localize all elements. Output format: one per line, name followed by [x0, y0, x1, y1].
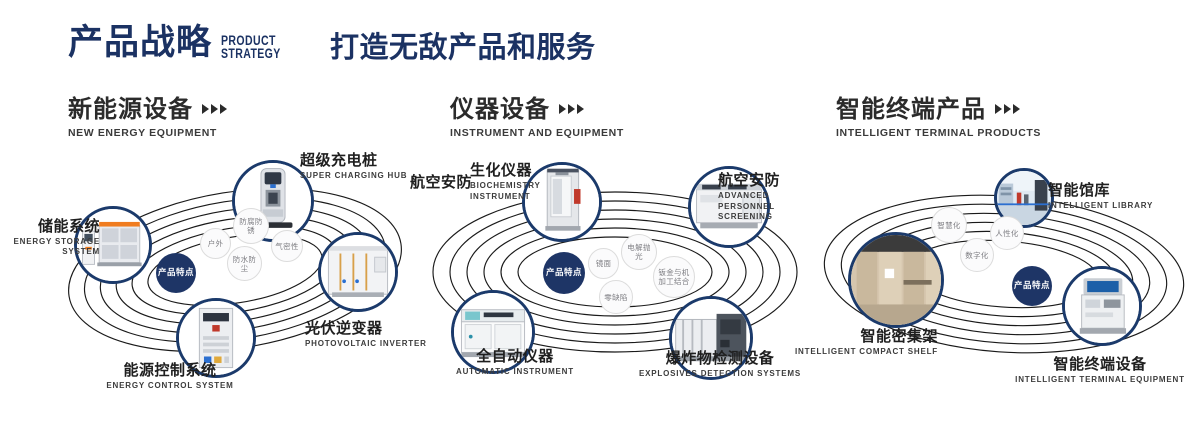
section-heading-en: NEW ENERGY EQUIPMENT	[68, 127, 227, 139]
cluster-new-energy: 产品特点 户外 防腐防锈 防水防尘 气密性	[60, 160, 420, 390]
feature-bubble-0: 户外	[200, 228, 231, 259]
poster-title-en: PRODUCT STRATEGY	[221, 34, 281, 60]
section-heading-cn: 新能源设备	[68, 96, 193, 122]
core-badge-instrument: 产品特点	[543, 252, 585, 294]
feature-bubble-2: 钣金与机加工结合	[653, 256, 695, 298]
node-label-biochemistry-instrument: 生化仪器 BIOCHEMISTRY INSTRUMENT	[470, 162, 580, 202]
node-label-intelligent-library: 智能馆库 INTELLIGENT LIBRARY	[1048, 182, 1193, 211]
feature-bubble-0: 镜面	[588, 248, 619, 279]
poster-canvas: 产品战略 PRODUCT STRATEGY 打造无敌产品和服务 新能源设备 NE…	[0, 0, 1200, 422]
poster-title-cn: 产品战略	[68, 26, 212, 61]
node-label-intelligent-terminal-equipment: 智能终端设备 INTELLIGENT TERMINAL EQUIPMENT	[1000, 356, 1200, 385]
section-heading-cn: 仪器设备	[450, 96, 550, 122]
chevron-triple-icon	[995, 104, 1020, 114]
node-photo-intelligent-terminal-equipment[interactable]	[1062, 266, 1142, 346]
core-badge-new-energy: 产品特点	[156, 253, 196, 293]
node-photo-photovoltaic-inverter[interactable]	[318, 232, 398, 312]
section-heading-cn: 智能终端产品	[836, 96, 986, 122]
inverter-cabinet-photo	[321, 235, 395, 309]
feature-bubble-1: 防腐防锈	[233, 208, 269, 244]
node-label-advanced-personnel-screening: 航空安防 ADVANCED PERSONNEL SCREENING	[718, 172, 828, 223]
feature-bubble-1: 电解抛光	[621, 234, 657, 270]
node-label-intelligent-compact-shelf: 智能密集架 INTELLIGENT COMPACT SHELF	[790, 328, 938, 357]
feature-bubble-1: 数字化	[960, 238, 994, 272]
poster-title-en-line2: STRATEGY	[221, 47, 281, 60]
feature-bubble-0: 智慧化	[931, 207, 967, 243]
node-label-energy-storage-system: 储能系统 ENERGY STORAGE SYSTEM	[0, 218, 100, 257]
poster-title: 产品战略 PRODUCT STRATEGY	[68, 26, 298, 61]
poster-tagline: 打造无敌产品和服务	[330, 32, 596, 62]
node-label-automatic-instrument: 全自动仪器 AUTOMATIC INSTRUMENT	[420, 348, 610, 377]
core-badge-intelligent-terminal: 产品特点	[1012, 266, 1052, 306]
section-heading-instrument: 仪器设备 INSTRUMENT AND EQUIPMENT	[450, 96, 624, 139]
feature-bubble-2: 人性化	[990, 216, 1024, 250]
section-heading-en: INTELLIGENT TERMINAL PRODUCTS	[836, 127, 1041, 139]
chevron-triple-icon	[559, 104, 584, 114]
feature-bubble-3: 零缺陷	[599, 280, 633, 314]
node-label-energy-control-system: 能源控制系统 ENERGY CONTROL SYSTEM	[60, 362, 280, 391]
section-heading-intelligent-terminal: 智能终端产品 INTELLIGENT TERMINAL PRODUCTS	[836, 96, 1041, 139]
self-service-kiosk-photo	[1065, 269, 1139, 343]
section-heading-en: INSTRUMENT AND EQUIPMENT	[450, 127, 624, 139]
compact-shelf-photo	[851, 235, 941, 325]
feature-bubble-3: 气密性	[271, 230, 303, 262]
section-heading-new-energy: 新能源设备 NEW ENERGY EQUIPMENT	[68, 96, 227, 139]
chevron-triple-icon	[202, 104, 227, 114]
feature-bubble-2: 防水防尘	[227, 246, 262, 281]
node-photo-intelligent-compact-shelf[interactable]	[848, 232, 944, 328]
